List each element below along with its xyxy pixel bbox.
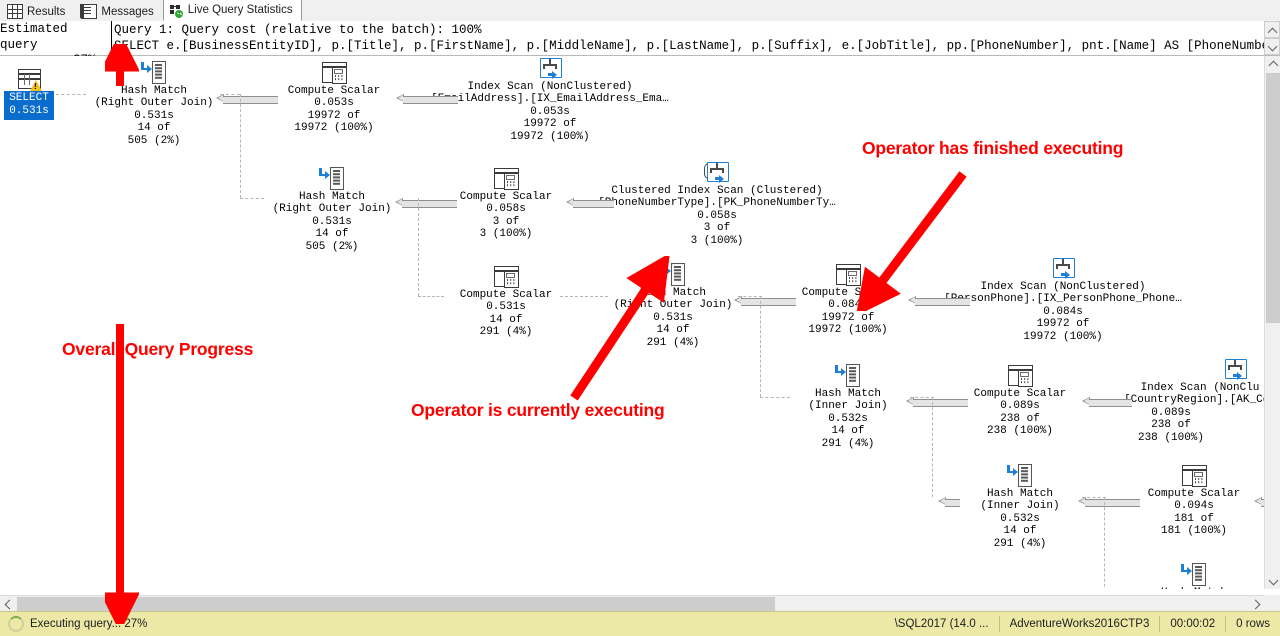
scan4-total: 238 (100%) bbox=[1110, 432, 1232, 444]
cs4-rows: 19972 of bbox=[790, 312, 906, 324]
execution-plan-canvas[interactable]: SELECT 0.531s Hash Match (Right Outer Jo… bbox=[0, 56, 1264, 589]
cs1-title: Compute Scalar bbox=[276, 85, 392, 97]
plan-vertical-scrollbar[interactable] bbox=[1264, 56, 1280, 589]
compute-scalar-icon bbox=[321, 60, 347, 84]
hash5-rows: 14 of bbox=[962, 525, 1078, 537]
cs3-total: 291 (4%) bbox=[448, 326, 564, 338]
tab-live-query-statistics-label: Live Query Statistics bbox=[188, 4, 293, 16]
status-server[interactable]: \SQL2017 (14.0 ... bbox=[885, 618, 999, 630]
dash-select-hash1 bbox=[56, 94, 86, 95]
scan3-subtitle: [PersonPhone].[IX_PersonPhone_Phone… bbox=[938, 293, 1188, 305]
results-pane-tabstrip: Results Messages Live Query Statistics bbox=[0, 0, 1280, 22]
connector-scan1-in bbox=[396, 94, 458, 103]
compute-scalar-icon bbox=[1181, 463, 1207, 487]
plan-node-cs6[interactable]: Compute Scalar 0.094s 181 of 181 (100%) bbox=[1136, 463, 1252, 538]
estimated-query-progress-box: Estimated query progress:27% bbox=[0, 21, 112, 54]
tab-results[interactable]: Results bbox=[0, 1, 74, 21]
scan3-time: 0.084s bbox=[938, 306, 1188, 318]
estimated-progress-line1: Estimated query bbox=[0, 22, 111, 53]
plan-node-scan1[interactable]: Index Scan (NonClustered) [EmailAddress]… bbox=[420, 56, 680, 143]
hash3-title: Hash Match bbox=[606, 287, 740, 299]
hash-match-icon bbox=[319, 166, 345, 190]
connector-cs6-right bbox=[1254, 497, 1264, 506]
plan-node-cs3[interactable]: Compute Scalar 0.531s 14 of 291 (4%) bbox=[448, 264, 564, 339]
dash-v-hash1 bbox=[240, 94, 241, 198]
scroll-up-button[interactable] bbox=[1265, 56, 1280, 72]
plan-node-hash2[interactable]: Hash Match (Right Outer Join) 0.531s 14 … bbox=[265, 166, 399, 253]
hash2-subtitle: (Right Outer Join) bbox=[265, 203, 399, 215]
compute-scalar-icon bbox=[493, 264, 519, 288]
hash4-time: 0.532s bbox=[790, 413, 906, 425]
horizontal-scroll-thumb[interactable] bbox=[17, 597, 775, 611]
cs5-title: Compute Scalar bbox=[962, 388, 1078, 400]
cs3-rows: 14 of bbox=[448, 314, 564, 326]
hash6-title: Hash Match bbox=[1136, 587, 1252, 589]
connector-cs2-in bbox=[395, 198, 457, 207]
select-label: SELECT bbox=[7, 92, 51, 105]
hash3-subtitle: (Right Outer Join) bbox=[606, 299, 740, 311]
hash5-title: Hash Match bbox=[962, 488, 1078, 500]
hash4-rows: 14 of bbox=[790, 425, 906, 437]
cs6-total: 181 (100%) bbox=[1136, 525, 1252, 537]
status-database: AdventureWorks2016CTP3 bbox=[999, 616, 1160, 632]
query-text-block: Query 1: Query cost (relative to the bat… bbox=[114, 21, 1264, 55]
hash1-time: 0.531s bbox=[88, 110, 220, 122]
connector-hash5-left bbox=[938, 497, 960, 506]
index-scan-icon bbox=[1222, 357, 1248, 381]
plan-node-hash1[interactable]: Hash Match (Right Outer Join) 0.531s 14 … bbox=[88, 60, 220, 147]
cs5-time: 0.089s bbox=[962, 400, 1078, 412]
dash-hash4-down bbox=[910, 397, 934, 398]
hash-match-icon bbox=[141, 60, 167, 84]
dash-hash2-in bbox=[240, 198, 264, 199]
scan3-rows: 19972 of bbox=[938, 318, 1188, 330]
cs3-time: 0.531s bbox=[448, 301, 564, 313]
plan-node-cs5[interactable]: Compute Scalar 0.089s 238 of 238 (100%) bbox=[962, 363, 1078, 438]
grid-icon bbox=[7, 4, 23, 19]
query-header-band: Estimated query progress:27% Query 1: Qu… bbox=[0, 21, 1280, 56]
status-executing-text: Executing query... 27% bbox=[30, 618, 147, 630]
hash1-rows: 14 of bbox=[88, 122, 220, 134]
scan2-time: 0.058s bbox=[592, 210, 842, 222]
cs2-title: Compute Scalar bbox=[448, 191, 564, 203]
scan1-total: 19972 (100%) bbox=[420, 131, 680, 143]
compute-scalar-icon bbox=[493, 166, 519, 190]
clustered-index-scan-icon bbox=[704, 160, 730, 184]
hash3-rows: 14 of bbox=[606, 324, 740, 336]
scan3-title: Index Scan (NonClustered) bbox=[938, 281, 1188, 293]
plan-node-hash6[interactable]: Hash Match bbox=[1136, 562, 1252, 589]
scan2-subtitle: [PhoneNumberType].[PK_PhoneNumberTy… bbox=[592, 197, 842, 209]
index-scan-icon bbox=[537, 56, 563, 80]
cs6-time: 0.094s bbox=[1136, 500, 1252, 512]
plan-node-hash5[interactable]: Hash Match (Inner Join) 0.532s 14 of 291… bbox=[962, 463, 1078, 550]
status-elapsed: 00:00:02 bbox=[1159, 616, 1225, 632]
cs4-title: Compute Scalar bbox=[790, 287, 906, 299]
plan-node-hash4[interactable]: Hash Match (Inner Join) 0.532s 14 of 291… bbox=[790, 363, 906, 450]
header-scroll-down-button[interactable] bbox=[1264, 38, 1280, 55]
scan4-subtitle: [CountryRegion].[AK_Cou bbox=[1110, 394, 1264, 406]
hash1-title: Hash Match bbox=[88, 85, 220, 97]
hash2-rows: 14 of bbox=[265, 228, 399, 240]
hash5-total: 291 (4%) bbox=[962, 538, 1078, 550]
scan1-title: Index Scan (NonClustered) bbox=[420, 81, 680, 93]
cs2-rows: 3 of bbox=[448, 216, 564, 228]
select-result-icon bbox=[16, 69, 42, 91]
plan-node-cs2[interactable]: Compute Scalar 0.058s 3 of 3 (100%) bbox=[448, 166, 564, 241]
tab-results-label: Results bbox=[27, 6, 65, 18]
connector-cs4-scan3 bbox=[908, 296, 970, 305]
hash3-time: 0.531s bbox=[606, 312, 740, 324]
scroll-down-button[interactable] bbox=[1265, 573, 1280, 589]
plan-node-cs4[interactable]: Compute Scalar 0.084s 19972 of 19972 (10… bbox=[790, 262, 906, 337]
plan-horizontal-scrollbar[interactable] bbox=[0, 595, 1280, 612]
plan-node-scan2[interactable]: Clustered Index Scan (Clustered) [PhoneN… bbox=[592, 160, 842, 247]
cs1-total: 19972 (100%) bbox=[276, 122, 392, 134]
query-cost-line: Query 1: Query cost (relative to the bat… bbox=[114, 22, 1264, 38]
hash4-subtitle: (Inner Join) bbox=[790, 400, 906, 412]
scan2-rows: 3 of bbox=[592, 222, 842, 234]
scan4-time: 0.089s bbox=[1110, 407, 1232, 419]
hash2-time: 0.531s bbox=[265, 216, 399, 228]
plan-node-scan3[interactable]: Index Scan (NonClustered) [PersonPhone].… bbox=[938, 256, 1188, 343]
tab-messages-label: Messages bbox=[101, 6, 153, 18]
scan3-total: 19972 (100%) bbox=[938, 331, 1188, 343]
hash5-time: 0.532s bbox=[962, 513, 1078, 525]
hash-match-icon bbox=[660, 262, 686, 286]
scan2-title: Clustered Index Scan (Clustered) bbox=[592, 185, 842, 197]
compute-scalar-icon bbox=[835, 262, 861, 286]
cs1-rows: 19972 of bbox=[276, 110, 392, 122]
hash5-subtitle: (Inner Join) bbox=[962, 500, 1078, 512]
scan1-rows: 19972 of bbox=[420, 118, 680, 130]
dash-hash1-down bbox=[220, 94, 240, 95]
connector-hash5-cs6 bbox=[1078, 497, 1140, 506]
scroll-left-button[interactable] bbox=[0, 596, 16, 612]
tab-messages[interactable]: Messages bbox=[74, 1, 162, 21]
index-scan-icon bbox=[1050, 256, 1076, 280]
dash-v-hash3 bbox=[760, 296, 761, 397]
cs2-total: 3 (100%) bbox=[448, 228, 564, 240]
hash-match-icon bbox=[1007, 463, 1033, 487]
connector-scan2-in bbox=[566, 198, 614, 207]
select-time: 0.531s bbox=[7, 105, 51, 118]
cs4-time: 0.084s bbox=[790, 299, 906, 311]
annotation-finished-label: Operator has finished executing bbox=[862, 138, 1123, 159]
connector-cs1-scan1 bbox=[216, 94, 278, 103]
hash-match-icon bbox=[835, 363, 861, 387]
live-query-statistics-icon bbox=[170, 4, 184, 17]
hash4-title: Hash Match bbox=[790, 388, 906, 400]
dash-v-hash5 bbox=[1104, 497, 1105, 589]
cs5-total: 238 (100%) bbox=[962, 425, 1078, 437]
scan2-total: 3 (100%) bbox=[592, 235, 842, 247]
cs2-time: 0.058s bbox=[448, 203, 564, 215]
annotation-progress-label: Overall Query Progress bbox=[62, 339, 253, 360]
dash-hash3-down bbox=[738, 296, 762, 297]
dash-hash5-down bbox=[1082, 497, 1106, 498]
connector-hash3-cs4 bbox=[734, 296, 796, 305]
hash1-subtitle: (Right Outer Join) bbox=[88, 97, 220, 109]
hash-match-icon bbox=[1181, 562, 1207, 586]
cs1-time: 0.053s bbox=[276, 97, 392, 109]
plan-node-hash3[interactable]: Hash Match (Right Outer Join) 0.531s 14 … bbox=[606, 262, 740, 349]
hash4-total: 291 (4%) bbox=[790, 438, 906, 450]
dash-cs3-in bbox=[418, 296, 444, 297]
scan4-title: Index Scan (NonClu bbox=[1110, 382, 1264, 394]
connector-cs5-scan4 bbox=[1082, 397, 1132, 406]
vertical-scroll-thumb[interactable] bbox=[1266, 73, 1280, 323]
hash3-total: 291 (4%) bbox=[606, 337, 740, 349]
messages-icon bbox=[81, 4, 97, 19]
connector-hash4-cs5 bbox=[906, 397, 968, 406]
cs6-rows: 181 of bbox=[1136, 513, 1252, 525]
plan-node-select[interactable]: SELECT 0.531s bbox=[4, 69, 54, 120]
hash2-title: Hash Match bbox=[265, 191, 399, 203]
hash2-total: 505 (2%) bbox=[265, 241, 399, 253]
status-bar: Executing query... 27% \SQL2017 (14.0 ..… bbox=[0, 611, 1280, 636]
tab-live-query-statistics[interactable]: Live Query Statistics bbox=[163, 0, 302, 21]
scrollbar-corner bbox=[1264, 595, 1280, 612]
busy-spinner-icon bbox=[8, 616, 24, 632]
dash-v-cs2 bbox=[418, 198, 419, 296]
plan-node-scan4[interactable]: Index Scan (NonClu [CountryRegion].[AK_C… bbox=[1110, 357, 1264, 444]
dash-v-hash4 bbox=[932, 397, 933, 497]
dash-hash4-in bbox=[760, 397, 790, 398]
scan4-rows: 238 of bbox=[1110, 419, 1232, 431]
hash1-total: 505 (2%) bbox=[88, 135, 220, 147]
cs4-total: 19972 (100%) bbox=[790, 324, 906, 336]
header-scroll-up-button[interactable] bbox=[1264, 21, 1280, 38]
cs5-rows: 238 of bbox=[962, 413, 1078, 425]
query-sql-line: SELECT e.[BusinessEntityID], p.[Title], … bbox=[114, 38, 1264, 54]
cs6-title: Compute Scalar bbox=[1136, 488, 1252, 500]
scan1-subtitle: [EmailAddress].[IX_EmailAddress_Ema… bbox=[420, 93, 680, 105]
plan-node-cs1[interactable]: Compute Scalar 0.053s 19972 of 19972 (10… bbox=[276, 60, 392, 135]
scan1-time: 0.053s bbox=[420, 106, 680, 118]
cs3-title: Compute Scalar bbox=[448, 289, 564, 301]
dash-cs3-hash3 bbox=[560, 296, 608, 297]
status-right-group: \SQL2017 (14.0 ... AdventureWorks2016CTP… bbox=[885, 612, 1280, 636]
compute-scalar-icon bbox=[1007, 363, 1033, 387]
status-rows: 0 rows bbox=[1225, 616, 1280, 632]
scroll-right-button[interactable] bbox=[1248, 596, 1264, 612]
annotation-executing-label: Operator is currently executing bbox=[411, 400, 664, 421]
